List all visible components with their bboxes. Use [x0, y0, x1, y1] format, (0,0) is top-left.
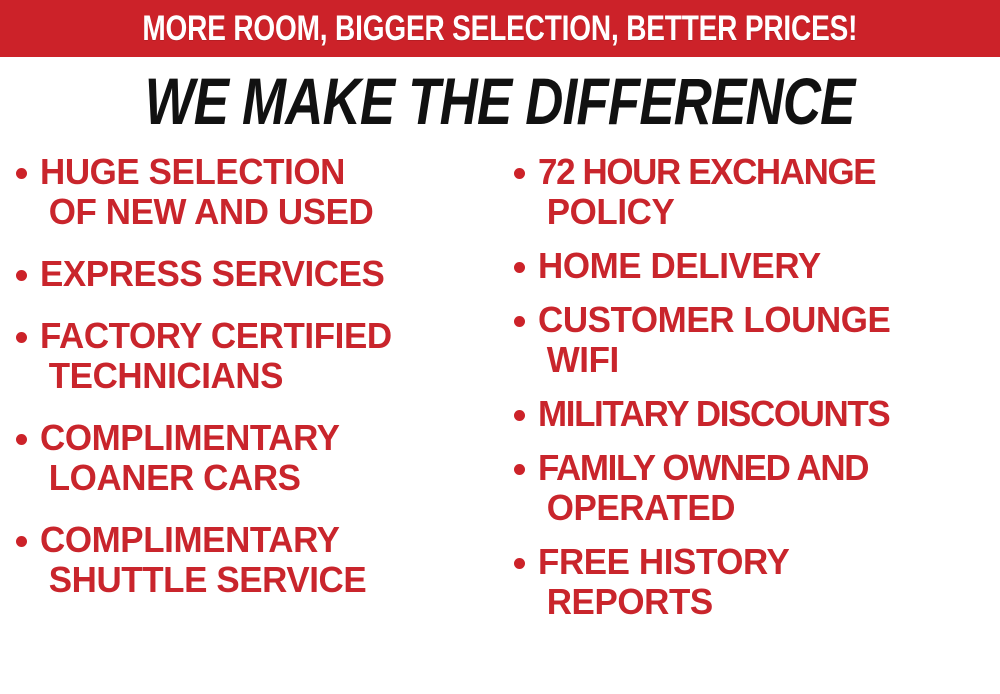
- list-item: COMPLIMENTARY SHUTTLE SERVICE: [16, 520, 500, 600]
- bullet-text: CUSTOMER LOUNGE WIFI: [538, 300, 986, 380]
- list-item: FAMILY OWNED AND OPERATED: [514, 448, 1000, 528]
- list-item: CUSTOMER LOUNGE WIFI: [514, 300, 1000, 380]
- bullet-line-1: EXPRESS SERVICES: [40, 253, 384, 294]
- list-item: MILITARY DISCOUNTS: [514, 394, 1000, 434]
- bullet-dot-icon: [514, 410, 525, 421]
- bullet-text: 72 HOUR EXCHANGE POLICY: [538, 152, 986, 232]
- bullet-text: EXPRESS SERVICES: [40, 254, 486, 294]
- bullet-dot-icon: [514, 558, 525, 569]
- bullet-line-2: REPORTS: [538, 582, 986, 622]
- benefits-column-right: 72 HOUR EXCHANGE POLICY HOME DELIVERY CU…: [514, 152, 1000, 694]
- list-item: COMPLIMENTARY LOANER CARS: [16, 418, 500, 498]
- bullet-line-1: HOME DELIVERY: [538, 245, 821, 286]
- benefits-columns: HUGE SELECTION OF NEW AND USED EXPRESS S…: [0, 152, 1000, 694]
- bullet-dot-icon: [514, 262, 525, 273]
- bullet-text: HOME DELIVERY: [538, 246, 986, 286]
- bullet-line-1: FAMILY OWNED AND: [538, 447, 868, 488]
- banner-headline-text: MORE ROOM, BIGGER SELECTION, BETTER PRIC…: [143, 11, 858, 46]
- bullet-line-1: FREE HISTORY: [538, 541, 789, 582]
- bullet-line-1: HUGE SELECTION: [40, 151, 345, 192]
- bullet-dot-icon: [16, 332, 27, 343]
- bullet-text: COMPLIMENTARY SHUTTLE SERVICE: [40, 520, 486, 600]
- bullet-dot-icon: [16, 536, 27, 547]
- bullet-line-2: SHUTTLE SERVICE: [40, 560, 486, 600]
- bullet-line-2: TECHNICIANS: [40, 356, 486, 396]
- bullet-dot-icon: [514, 316, 525, 327]
- list-item: 72 HOUR EXCHANGE POLICY: [514, 152, 1000, 232]
- list-item: HOME DELIVERY: [514, 246, 1000, 286]
- bullet-line-1: COMPLIMENTARY: [40, 519, 340, 560]
- bullet-line-2: OF NEW AND USED: [40, 192, 486, 232]
- page-title: WE MAKE THE DIFFERENCE: [145, 67, 855, 135]
- bullet-line-2: POLICY: [538, 192, 986, 232]
- bullet-text: MILITARY DISCOUNTS: [538, 394, 986, 434]
- bullet-text: FACTORY CERTIFIED TECHNICIANS: [40, 316, 486, 396]
- list-item: FACTORY CERTIFIED TECHNICIANS: [16, 316, 500, 396]
- bullet-text: HUGE SELECTION OF NEW AND USED: [40, 152, 486, 232]
- bullet-dot-icon: [514, 168, 525, 179]
- bullet-dot-icon: [16, 270, 27, 281]
- bullet-line-1: MILITARY DISCOUNTS: [538, 393, 889, 434]
- list-item: EXPRESS SERVICES: [16, 254, 500, 294]
- headline-area: WE MAKE THE DIFFERENCE: [0, 62, 1000, 140]
- bullet-line-1: CUSTOMER LOUNGE: [538, 299, 890, 340]
- promo-poster: MORE ROOM, BIGGER SELECTION, BETTER PRIC…: [0, 0, 1000, 694]
- bullet-line-2: WIFI: [538, 340, 986, 380]
- bullet-line-1: FACTORY CERTIFIED: [40, 315, 392, 356]
- benefits-column-left: HUGE SELECTION OF NEW AND USED EXPRESS S…: [16, 152, 500, 694]
- bullet-dot-icon: [16, 434, 27, 445]
- bullet-text: FAMILY OWNED AND OPERATED: [538, 448, 986, 528]
- top-banner: MORE ROOM, BIGGER SELECTION, BETTER PRIC…: [0, 0, 1000, 57]
- bullet-dot-icon: [514, 464, 525, 475]
- bullet-dot-icon: [16, 168, 27, 179]
- list-item: HUGE SELECTION OF NEW AND USED: [16, 152, 500, 232]
- bullet-line-2: OPERATED: [538, 488, 986, 528]
- bullet-text: COMPLIMENTARY LOANER CARS: [40, 418, 486, 498]
- bullet-line-1: 72 HOUR EXCHANGE: [538, 151, 875, 192]
- list-item: FREE HISTORY REPORTS: [514, 542, 1000, 622]
- bullet-line-1: COMPLIMENTARY: [40, 417, 340, 458]
- bullet-line-2: LOANER CARS: [40, 458, 486, 498]
- bullet-text: FREE HISTORY REPORTS: [538, 542, 986, 622]
